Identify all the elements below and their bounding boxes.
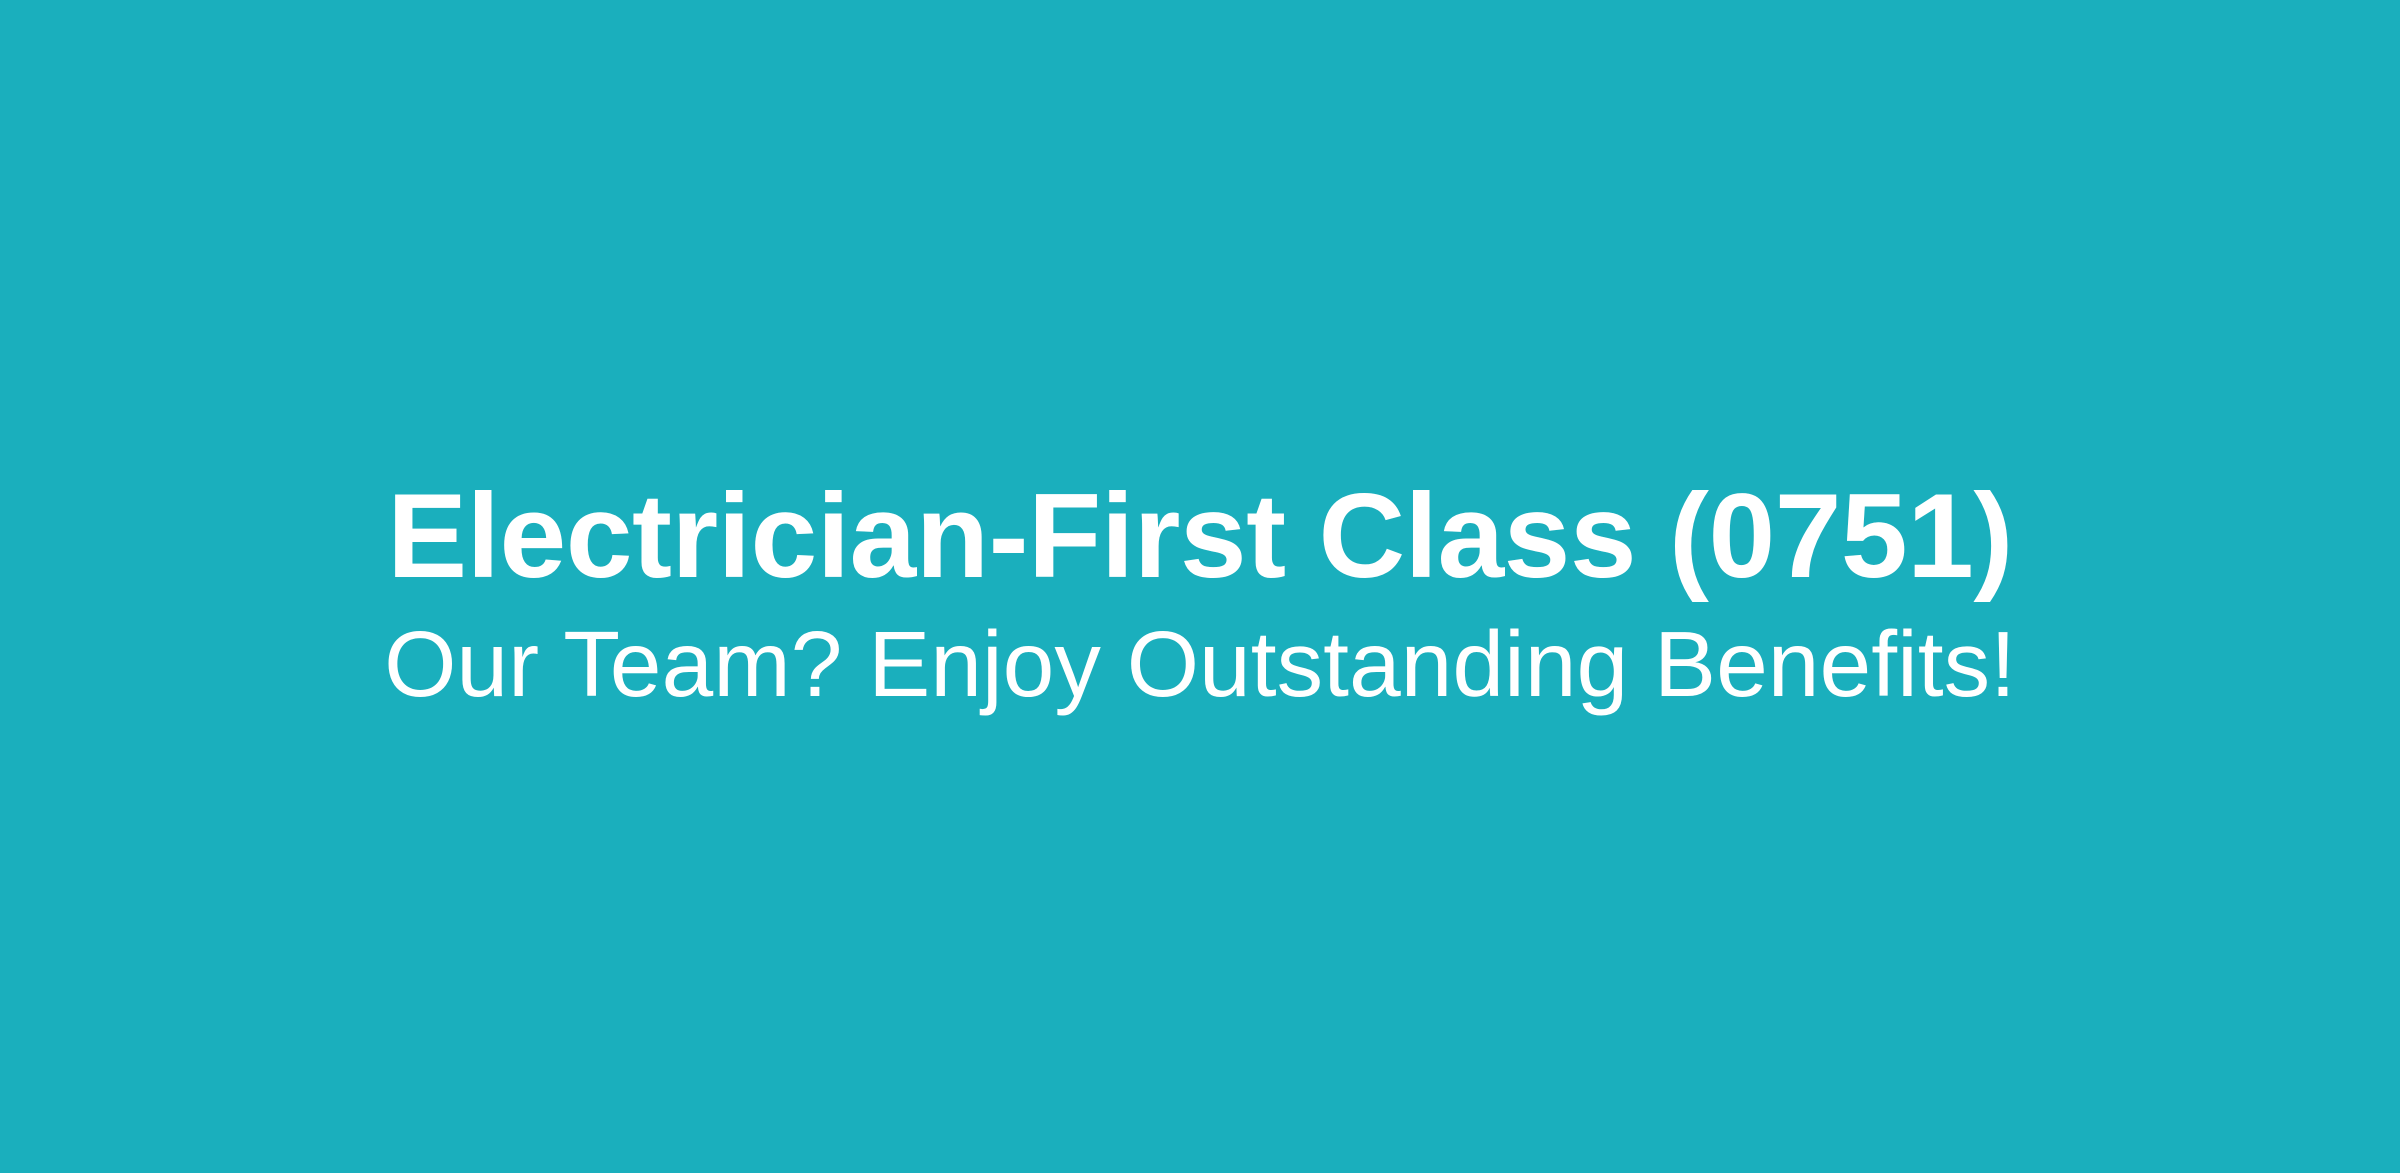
page-title: Electrician-First Class (0751) (387, 475, 2013, 597)
hero-banner: Electrician-First Class (0751) Our Team?… (0, 0, 2400, 1173)
hero-content: Electrician-First Class (0751) Our Team?… (0, 475, 2400, 713)
page-subtitle: Our Team? Enjoy Outstanding Benefits! (384, 616, 2016, 714)
